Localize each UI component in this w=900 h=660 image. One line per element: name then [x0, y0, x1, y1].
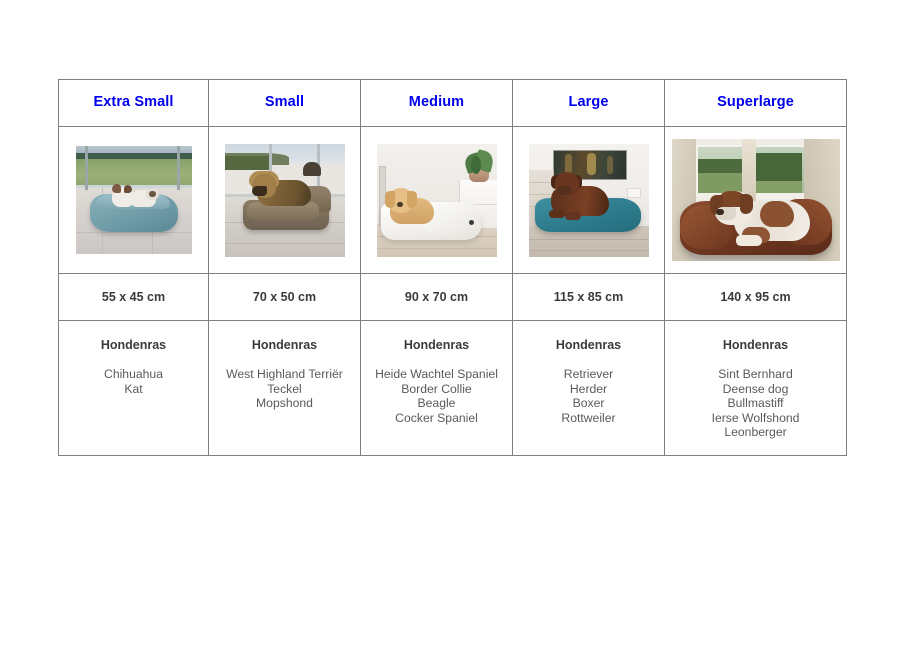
- size-name-label: Medium: [361, 95, 512, 111]
- plant-leaf: [471, 156, 481, 174]
- table-header-row: Extra Small Small Medium Large Superlarg…: [59, 80, 847, 127]
- image-cell-large: [513, 127, 665, 274]
- breeds-list: RetrieverHerderBoxerRottweiler: [513, 367, 664, 425]
- breeds-title: Hondenras: [361, 338, 512, 353]
- floor-plank-seam: [377, 248, 497, 249]
- tile-seam: [76, 232, 192, 233]
- breed-item: Herder: [513, 382, 664, 397]
- dimension-cell-medium: 90 x 70 cm: [361, 274, 513, 321]
- image-cell-small: [209, 127, 361, 274]
- breed-item: Boxer: [513, 396, 664, 411]
- breed-item: West Highland Terriër: [209, 367, 360, 382]
- dog-snout: [557, 186, 571, 195]
- breeds-title: Hondenras: [665, 338, 846, 353]
- dimension-cell-small: 70 x 50 cm: [209, 274, 361, 321]
- header-cell-extra-small: Extra Small: [59, 80, 209, 127]
- photo-container: [209, 127, 360, 273]
- tile-seam: [225, 243, 345, 244]
- breed-item: Leonberger: [665, 425, 846, 440]
- dimension-cell-superlarge: 140 x 95 cm: [665, 274, 847, 321]
- artwork-figure: [565, 154, 572, 174]
- dog-snout: [252, 186, 267, 196]
- floor-plank-seam: [529, 239, 649, 240]
- header-cell-small: Small: [209, 80, 361, 127]
- breed-item: Border Collie: [361, 382, 512, 397]
- photo-container: [361, 127, 512, 273]
- dimension-cell-large: 115 x 85 cm: [513, 274, 665, 321]
- size-name-label: Extra Small: [59, 95, 208, 111]
- dog-ear: [740, 194, 753, 214]
- header-cell-large: Large: [513, 80, 665, 127]
- table-dimensions-row: 55 x 45 cm 70 x 50 cm 90 x 70 cm 115 x 8…: [59, 274, 847, 321]
- dog-paw: [736, 235, 762, 246]
- breed-item: Retriever: [513, 367, 664, 382]
- artwork-figure: [607, 156, 613, 174]
- dog-nose: [716, 209, 724, 215]
- breed-item: Beagle: [361, 396, 512, 411]
- breed-item: Deense dog: [665, 382, 846, 397]
- dimension-label: 140 x 95 cm: [665, 290, 846, 304]
- dimension-label: 90 x 70 cm: [361, 290, 512, 304]
- table-breeds-row: Hondenras ChihuahuaKat Hondenras West Hi…: [59, 321, 847, 456]
- dimension-label: 55 x 45 cm: [59, 290, 208, 304]
- breed-item: Heide Wachtel Spaniel: [361, 367, 512, 382]
- dimension-cell-extra-small: 55 x 45 cm: [59, 274, 209, 321]
- breeds-title: Hondenras: [59, 338, 208, 353]
- photo-container: [665, 127, 846, 273]
- breeds-block: Hondenras ChihuahuaKat: [59, 321, 208, 396]
- breeds-cell-medium: Hondenras Heide Wachtel SpanielBorder Co…: [361, 321, 513, 456]
- breeds-title: Hondenras: [209, 338, 360, 353]
- header-cell-medium: Medium: [361, 80, 513, 127]
- breed-item: Teckel: [209, 382, 360, 397]
- size-name-label: Superlarge: [665, 95, 846, 111]
- page-root: Extra Small Small Medium Large Superlarg…: [0, 0, 900, 660]
- breeds-block: Hondenras Sint BernhardDeense dogBullmas…: [665, 321, 846, 440]
- breeds-block: Hondenras RetrieverHerderBoxerRottweiler: [513, 321, 664, 425]
- image-cell-extra-small: [59, 127, 209, 274]
- window-frame: [85, 146, 88, 190]
- dog-ear: [112, 184, 121, 193]
- dog-ear: [124, 185, 132, 193]
- product-photo-small: [225, 144, 345, 257]
- dog-ear: [407, 191, 417, 208]
- header-cell-superlarge: Superlarge: [665, 80, 847, 127]
- curtain-middle: [742, 139, 756, 201]
- breeds-cell-extra-small: Hondenras ChihuahuaKat: [59, 321, 209, 456]
- lawn: [76, 159, 192, 186]
- dog-paw: [565, 212, 581, 220]
- product-photo-medium: [377, 144, 497, 257]
- dog-fur-patch: [760, 201, 794, 227]
- breeds-list: Sint BernhardDeense dogBullmastiffIerse …: [665, 367, 846, 440]
- image-cell-medium: [361, 127, 513, 274]
- breed-item: Mopshond: [209, 396, 360, 411]
- floor-plank-seam: [529, 250, 649, 251]
- wall-socket: [627, 188, 641, 198]
- brick-seam: [529, 182, 553, 183]
- breeds-cell-superlarge: Hondenras Sint BernhardDeense dogBullmas…: [665, 321, 847, 456]
- dog-paw: [549, 210, 565, 218]
- table-image-row: [59, 127, 847, 274]
- dimension-label: 70 x 50 cm: [209, 290, 360, 304]
- breeds-list: ChihuahuaKat: [59, 367, 208, 396]
- background-object: [303, 162, 321, 176]
- photo-container: [513, 127, 664, 273]
- dog-nose: [397, 202, 403, 207]
- breeds-title: Hondenras: [513, 338, 664, 353]
- dog-bed-label-tag: [469, 220, 474, 225]
- breeds-cell-large: Hondenras RetrieverHerderBoxerRottweiler: [513, 321, 665, 456]
- image-cell-superlarge: [665, 127, 847, 274]
- breeds-block: Hondenras Heide Wachtel SpanielBorder Co…: [361, 321, 512, 425]
- breeds-list: West Highland TerriërTeckelMopshond: [209, 367, 360, 411]
- breed-item: Chihuahua: [59, 367, 208, 382]
- breeds-cell-small: Hondenras West Highland TerriërTeckelMop…: [209, 321, 361, 456]
- size-name-label: Large: [513, 95, 664, 111]
- trees: [225, 156, 271, 170]
- breed-item: Ierse Wolfshond: [665, 411, 846, 426]
- window-frame: [177, 146, 180, 190]
- breed-item: Kat: [59, 382, 208, 397]
- breed-item: Rottweiler: [513, 411, 664, 426]
- product-photo-superlarge: [672, 139, 840, 261]
- dimension-label: 115 x 85 cm: [513, 290, 664, 304]
- dog-ear: [385, 191, 395, 208]
- hedge: [756, 153, 802, 183]
- photo-container: [59, 127, 208, 273]
- product-photo-extra-small: [76, 146, 192, 254]
- breed-item: Sint Bernhard: [665, 367, 846, 382]
- breed-item: Cocker Spaniel: [361, 411, 512, 426]
- breeds-block: Hondenras West Highland TerriërTeckelMop…: [209, 321, 360, 411]
- brick-seam: [529, 194, 553, 195]
- breeds-list: Heide Wachtel SpanielBorder CollieBeagle…: [361, 367, 512, 425]
- product-photo-large: [529, 144, 649, 257]
- dog-bed-size-table: Extra Small Small Medium Large Superlarg…: [58, 79, 847, 456]
- size-name-label: Small: [209, 95, 360, 111]
- artwork-figure: [587, 153, 596, 175]
- breed-item: Bullmastiff: [665, 396, 846, 411]
- cat-face: [149, 191, 156, 197]
